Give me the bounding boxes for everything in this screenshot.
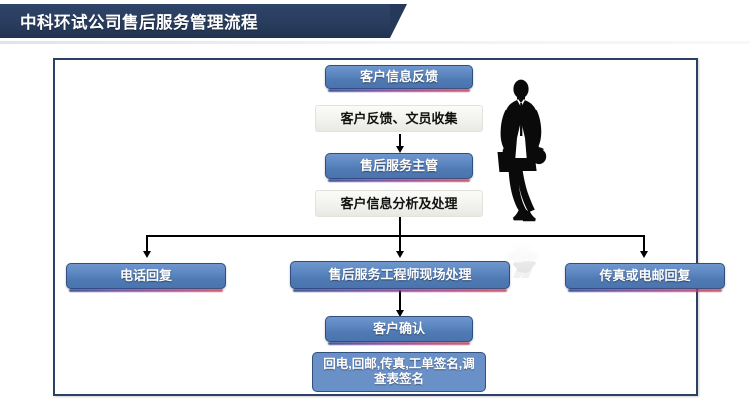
node-label: 回电,回邮,传真,工单签名,调查表签名 (319, 357, 479, 387)
node-label: 客户信息分析及处理 (340, 196, 457, 211)
title-underline-divider (0, 41, 750, 44)
node-label: 客户反馈、文员收集 (340, 111, 457, 126)
arrowhead-feedback-to-supervisor (396, 146, 404, 153)
node-customer-info-analysis-processing[interactable]: 客户信息分析及处理 (315, 190, 483, 217)
node-engineer-onsite-handling[interactable]: 售后服务工程师现场处理 (290, 261, 510, 289)
arrowhead-branch-to-fax-email-reply (640, 251, 648, 258)
node-label: 电话回复 (120, 268, 172, 283)
connector-onsite-to-confirm (399, 290, 401, 312)
node-label: 售后服务工程师现场处理 (328, 267, 471, 282)
node-label: 客户信息反馈 (360, 69, 438, 84)
node-customer-confirmation[interactable]: 客户确认 (325, 316, 473, 342)
page-title-bar: 中科环试公司售后服务管理流程 (0, 4, 390, 38)
arrowhead-branch-to-phone-reply (143, 251, 151, 258)
node-label: 客户确认 (373, 321, 425, 336)
connector-analysis-to-branch-bus (399, 216, 401, 236)
page-title: 中科环试公司售后服务管理流程 (0, 9, 258, 33)
node-confirmation-methods[interactable]: 回电,回邮,传真,工单签名,调查表签名 (312, 352, 486, 392)
node-fax-or-email-reply[interactable]: 传真或电邮回复 (565, 263, 725, 289)
node-after-sales-service-supervisor[interactable]: 售后服务主管 (325, 153, 473, 179)
node-telephone-reply[interactable]: 电话回复 (66, 263, 226, 289)
node-customer-information-feedback[interactable]: 客户信息反馈 (325, 65, 473, 89)
flowchart-canvas: 客户信息反馈 客户反馈、文员收集 售后服务主管 客户信息分析及处理 电话回复 售… (0, 0, 750, 405)
node-customer-feedback-clerk-collection[interactable]: 客户反馈、文员收集 (315, 105, 483, 132)
node-label: 售后服务主管 (360, 158, 438, 173)
arrowhead-branch-to-onsite (396, 251, 404, 258)
businessman-silhouette-icon (487, 76, 557, 226)
node-label: 传真或电邮回复 (599, 268, 690, 283)
branch-bus-horizontal (146, 235, 644, 237)
